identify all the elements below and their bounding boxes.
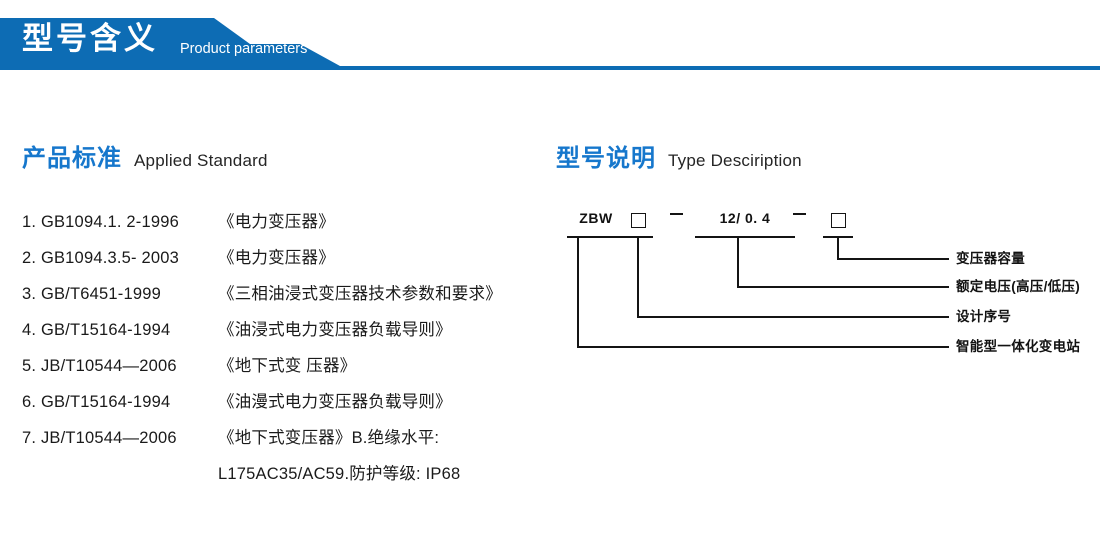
leader-label-design-serial: 设计序号 <box>956 310 1011 324</box>
standard-code: 3. GB/T6451-1999 <box>22 285 218 304</box>
leader-h-design-serial <box>637 316 949 318</box>
leader-label-capacity: 变压器容量 <box>956 252 1025 266</box>
leader-label-substation: 智能型一体化变电站 <box>956 340 1080 354</box>
page-header-banner: 型号含义 Product parameters <box>0 18 1100 72</box>
standard-code: 6. GB/T15164-1994 <box>22 393 218 412</box>
applied-standard-heading-en: Applied Standard <box>134 151 268 170</box>
leader-v-capacity <box>837 236 839 260</box>
standard-title: 《电力变压器》 <box>218 244 562 268</box>
list-item-continuation: L175AC35/AC59.防护等级: IP68 <box>22 460 562 496</box>
list-item: 2. GB1094.3.5- 2003 《电力变压器》 <box>22 244 562 280</box>
standard-title: 《三相油浸式变压器技术参数和要求》 <box>218 280 562 304</box>
standard-code: 2. GB1094.3.5- 2003 <box>22 249 218 268</box>
applied-standard-heading-cn: 产品标准 <box>22 145 122 172</box>
list-item: 4. GB/T15164-1994 《油浸式电力变压器负载导则》 <box>22 316 562 352</box>
standard-title: 《油浸式电力变压器负载导则》 <box>218 316 562 340</box>
type-code-token-zbw: ZBW <box>572 210 620 226</box>
leader-h-voltage <box>737 286 949 288</box>
standard-code: 1. GB1094.1. 2-1996 <box>22 213 218 232</box>
standard-title: 《地下式变压器》B.绝缘水平: <box>218 424 562 448</box>
standard-title: 《电力变压器》 <box>218 208 562 232</box>
leader-label-rated-voltage: 额定电压(高压/低压) <box>956 280 1080 294</box>
type-code-token-voltage: 12/ 0. 4 <box>700 210 790 226</box>
list-item: 6. GB/T15164-1994 《油漫式电力变压器负载导则》 <box>22 388 562 424</box>
type-code-underline-zbw <box>567 236 625 238</box>
type-description-heading-cn: 型号说明 <box>556 145 656 172</box>
banner-title-en: Product parameters <box>180 38 307 60</box>
leader-v-zbw <box>577 236 579 348</box>
standards-list: 1. GB1094.1. 2-1996 《电力变压器》 2. GB1094.3.… <box>22 208 562 496</box>
standard-title: 《油漫式电力变压器负载导则》 <box>218 388 562 412</box>
leader-v-voltage <box>737 236 739 288</box>
standard-code: 4. GB/T15164-1994 <box>22 321 218 340</box>
type-code-box-design-serial <box>631 213 646 228</box>
leader-v-design-serial <box>637 236 639 318</box>
list-item: 3. GB/T6451-1999 《三相油浸式变压器技术参数和要求》 <box>22 280 562 316</box>
type-description-heading: 型号说明Type Desciription <box>556 138 802 173</box>
type-code-underline-voltage <box>695 236 795 238</box>
leader-h-capacity <box>837 258 949 260</box>
list-item: 1. GB1094.1. 2-1996 《电力变压器》 <box>22 208 562 244</box>
list-item: 7. JB/T10544—2006 《地下式变压器》B.绝缘水平: <box>22 424 562 460</box>
standard-title: L175AC35/AC59.防护等级: IP68 <box>218 460 562 484</box>
banner-title-cn: 型号含义 <box>22 16 158 62</box>
list-item: 5. JB/T10544—2006 《地下式变 压器》 <box>22 352 562 388</box>
applied-standard-heading: 产品标准Applied Standard <box>22 138 268 173</box>
type-code-box-capacity <box>831 213 846 228</box>
type-code-dash-1 <box>670 213 683 215</box>
standard-title: 《地下式变 压器》 <box>218 352 562 376</box>
leader-h-zbw <box>577 346 949 348</box>
standard-code: 5. JB/T10544—2006 <box>22 357 218 376</box>
type-description-heading-en: Type Desciription <box>668 151 802 170</box>
type-code-dash-2 <box>793 213 806 215</box>
standard-code: 7. JB/T10544—2006 <box>22 429 218 448</box>
banner-underline-rule <box>0 66 1100 70</box>
type-designation-diagram: ZBW 12/ 0. 4 变压器容量 额定电压(高压/低压) 设计序号 智能型一… <box>556 200 1100 370</box>
